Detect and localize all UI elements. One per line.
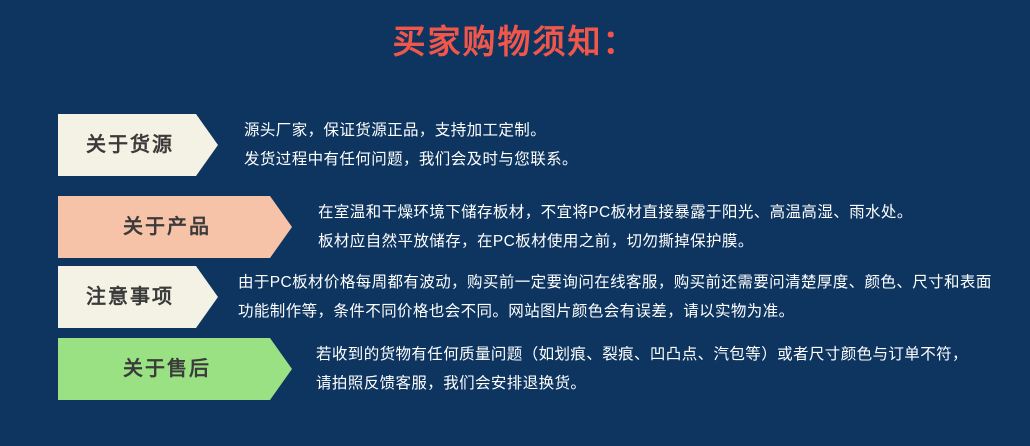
notice-line: 由于PC板材价格每周都有波动，购买前一定要询问在线客服，购买前还需要问清楚厚度、… (238, 268, 992, 297)
notice-section-aftersale: 关于售后 若收到的货物有任何质量问题（如划痕、裂痕、凹凸点、汽包等）或者尺寸颜色… (0, 338, 1030, 400)
notice-section-source: 关于货源 源头厂家，保证货源正品，支持加工定制。 发货过程中有任何问题，我们会及… (0, 114, 1030, 176)
tag-banner-attention: 注意事项 (58, 266, 218, 328)
tag-banner-source: 关于货源 (58, 114, 218, 176)
notice-line: 板材应自然平放储存，在PC板材使用之前，切勿撕掉保护膜。 (318, 227, 913, 256)
tag-banner-label: 关于货源 (86, 135, 190, 155)
notice-line: 若收到的货物有任何质量问题（如划痕、裂痕、凹凸点、汽包等）或者尺寸颜色与订单不符… (316, 340, 968, 369)
notice-body-product: 在室温和干燥环境下储存板材，不宜将PC板材直接暴露于阳光、高温高湿、雨水处。 板… (318, 198, 913, 256)
notice-body-source: 源头厂家，保证货源正品，支持加工定制。 发货过程中有任何问题，我们会及时与您联系… (244, 116, 578, 174)
page-title: 买家购物须知： (0, 22, 1030, 62)
tag-banner-label: 注意事项 (86, 287, 190, 307)
tag-banner-aftersale: 关于售后 (58, 338, 292, 400)
notice-section-attention: 注意事项 由于PC板材价格每周都有波动，购买前一定要询问在线客服，购买前还需要问… (0, 266, 1030, 328)
notice-line: 源头厂家，保证货源正品，支持加工定制。 (244, 116, 578, 145)
notice-line: 在室温和干燥环境下储存板材，不宜将PC板材直接暴露于阳光、高温高湿、雨水处。 (318, 198, 913, 227)
notice-body-aftersale: 若收到的货物有任何质量问题（如划痕、裂痕、凹凸点、汽包等）或者尺寸颜色与订单不符… (316, 340, 968, 398)
notice-line: 功能制作等，条件不同价格也会不同。网站图片颜色会有误差，请以实物为准。 (238, 297, 992, 326)
buyer-notice-page: 买家购物须知： 关于货源 源头厂家，保证货源正品，支持加工定制。 发货过程中有任… (0, 0, 1030, 446)
tag-banner-label: 关于产品 (123, 217, 227, 237)
tag-banner-label: 关于售后 (123, 359, 227, 379)
notice-body-attention: 由于PC板材价格每周都有波动，购买前一定要询问在线客服，购买前还需要问清楚厚度、… (238, 268, 992, 326)
tag-banner-product: 关于产品 (58, 196, 292, 258)
notice-section-product: 关于产品 在室温和干燥环境下储存板材，不宜将PC板材直接暴露于阳光、高温高湿、雨… (0, 196, 1030, 258)
notice-line: 发货过程中有任何问题，我们会及时与您联系。 (244, 145, 578, 174)
notice-line: 请拍照反馈客服，我们会安排退换货。 (316, 369, 968, 398)
